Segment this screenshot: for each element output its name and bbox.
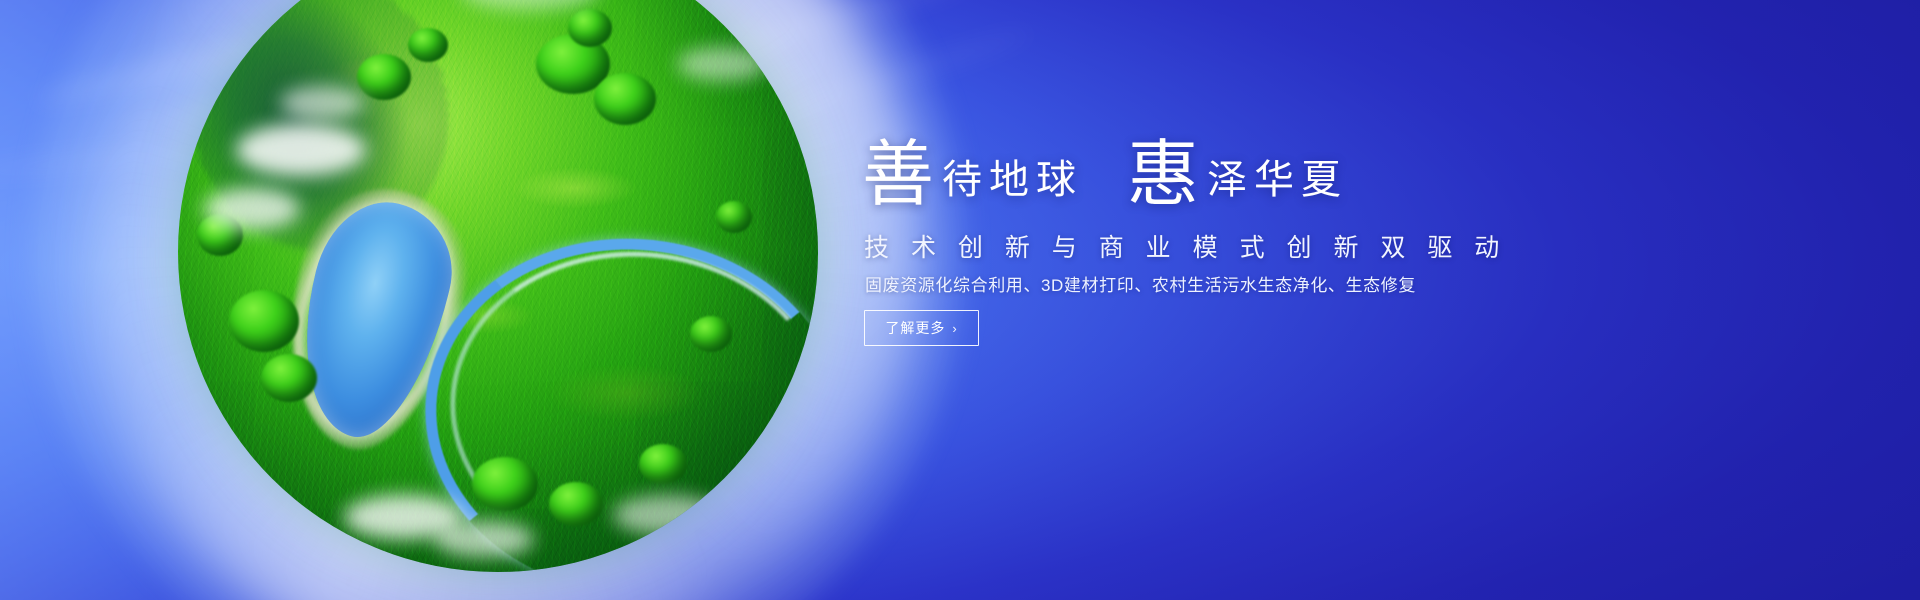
- headline-big-1: 善: [862, 135, 934, 215]
- tiny-planet-globe: [118, 0, 878, 600]
- hero-banner: 善待地球惠泽华夏 技 术 创 新 与 商 业 模 式 创 新 双 驱 动 固废资…: [0, 0, 1920, 600]
- cloud-icon: [613, 495, 723, 535]
- subtitle: 技 术 创 新 与 商 业 模 式 创 新 双 驱 动: [864, 228, 1507, 264]
- headline-big-2: 惠: [1127, 135, 1199, 215]
- learn-more-button[interactable]: 了解更多 ›: [864, 310, 979, 346]
- bush-icon: [357, 54, 411, 100]
- cloud-icon: [434, 521, 534, 557]
- bush-icon: [472, 457, 538, 511]
- chevron-right-icon: ›: [952, 322, 957, 335]
- description: 固废资源化综合利用、3D建材打印、农村生活污水生态净化、生态修复: [865, 271, 1416, 296]
- headline: 善待地球惠泽华夏: [862, 139, 1348, 211]
- cloud-icon: [236, 124, 366, 176]
- bush-icon: [716, 201, 752, 233]
- headline-small-2: 泽华夏: [1207, 157, 1348, 202]
- bush-icon: [594, 73, 656, 125]
- bush-icon: [568, 9, 612, 47]
- banner-content: 善待地球惠泽华夏 技 术 创 新 与 商 业 模 式 创 新 双 驱 动 固废资…: [862, 0, 1562, 600]
- cloud-icon: [280, 86, 364, 120]
- bush-icon: [639, 444, 687, 484]
- learn-more-label: 了解更多: [885, 318, 945, 338]
- headline-small-1: 待地球: [942, 157, 1083, 202]
- cloud-icon: [204, 188, 300, 230]
- bush-icon: [690, 316, 732, 352]
